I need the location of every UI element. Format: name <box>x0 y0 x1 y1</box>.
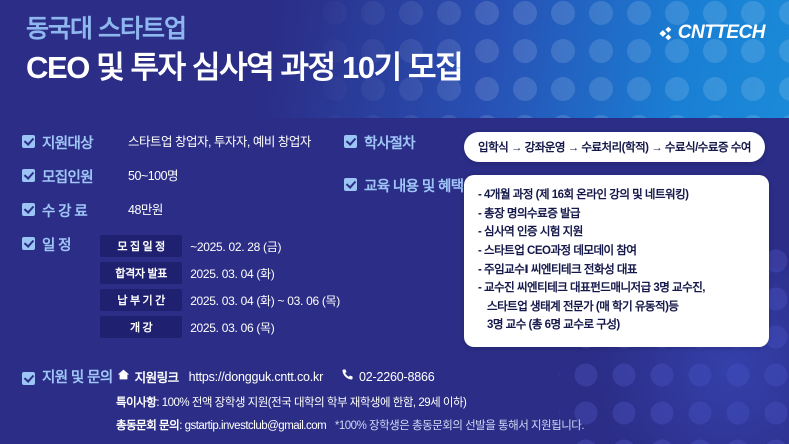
schedule-value: ~2025. 02. 28 (금) <box>190 238 281 255</box>
schedule-key: 납 부 기 간 <box>100 289 182 311</box>
info-label: 학사절차 <box>364 132 464 153</box>
schedule-key: 개 강 <box>100 316 182 338</box>
phone-number: 02-2260-8866 <box>359 370 434 384</box>
page-title: CEO 및 투자 심사역 과정 10기 모집 <box>26 50 789 86</box>
table-row: 개 강 2025. 03. 06 (목) <box>100 316 340 338</box>
phone-contact[interactable]: 02-2260-8866 <box>341 368 434 386</box>
schedule-value: 2025. 03. 04 (화) <box>190 265 274 282</box>
check-icon <box>344 135 357 148</box>
info-label: 수 강 료 <box>42 200 128 221</box>
schedule-key: 모 집 일 정 <box>100 235 182 257</box>
support-link-label: 지원링크 <box>135 367 179 386</box>
benefits-box: - 4개월 과정 (제 16회 온라인 강의 및 네트워킹) - 총장 명의수료… <box>464 175 769 347</box>
process-flow-box: 입학식 → 강좌운영 → 수료처리(학적) → 수료식/수료증 수여 <box>464 132 765 162</box>
support-url[interactable]: https://dongguk.cntt.co.kr <box>189 370 323 384</box>
check-icon <box>22 372 35 385</box>
info-row-capacity: 모집인원 50~100명 <box>22 166 340 187</box>
info-value: 스타트업 창업자, 투자자, 예비 창업자 <box>128 132 311 152</box>
table-row: 모 집 일 정 ~2025. 02. 28 (금) <box>100 235 340 257</box>
list-item: - 4개월 과정 (제 16회 온라인 강의 및 네트워킹) <box>478 186 755 205</box>
table-row: 납 부 기 간 2025. 03. 04 (화) ~ 03. 06 (목) <box>100 289 340 311</box>
support-link[interactable]: 지원링크 https://dongguk.cntt.co.kr <box>117 367 323 386</box>
info-value: 50~100명 <box>128 166 178 186</box>
table-row: 합격자 발표 2025. 03. 04 (화) <box>100 262 340 284</box>
info-row-process: 학사절차 입학식 → 강좌운영 → 수료처리(학적) → 수료식/수료증 수여 <box>344 132 789 162</box>
footer-alumni-value[interactable]: : gstartip.investclub@gmail.com <box>179 420 326 432</box>
list-item: - 심사역 인증 시험 지원 <box>478 223 755 242</box>
brand-logo-text: CNTTECH <box>678 22 765 44</box>
info-row-fee: 수 강 료 48만원 <box>22 200 340 221</box>
diamond-cluster-icon <box>656 25 673 42</box>
info-row-target: 지원대상 스타트업 창업자, 투자자, 예비 창업자 <box>22 132 340 153</box>
footer-note-label: 특이사항 <box>116 397 156 409</box>
schedule-value: 2025. 03. 04 (화) ~ 03. 06 (목) <box>190 292 340 309</box>
footer-note-value: : 100% 전액 장학생 지원(전국 대학의 학부 재학생에 한함, 29세 … <box>156 397 466 409</box>
schedule-label: 일 정 <box>42 234 100 255</box>
list-item: - 교수진 씨엔티테크 대표펀드매니저급 3명 교수진, 스타트업 생태계 전문… <box>478 279 755 335</box>
left-column: 지원대상 스타트업 창업자, 투자자, 예비 창업자 모집인원 50~100명 … <box>0 132 340 360</box>
poster-header: 동국대 스타트업 CEO 및 투자 심사역 과정 10기 모집 CNTTECH <box>0 0 789 118</box>
schedule-key: 합격자 발표 <box>100 262 182 284</box>
footer-alumni-label: 총동문회 문의 <box>116 420 179 432</box>
right-column: 학사절차 입학식 → 강좌운영 → 수료처리(학적) → 수료식/수료증 수여 … <box>340 132 789 360</box>
info-label: 교육 내용 및 혜택 <box>364 175 464 196</box>
info-row-benefits: 교육 내용 및 혜택 - 4개월 과정 (제 16회 온라인 강의 및 네트워킹… <box>344 175 789 347</box>
check-icon <box>22 203 35 216</box>
list-item: - 스타트업 CEO과정 데모데이 참여 <box>478 242 755 261</box>
list-item: - 주임교수Ⅰ 씨엔티테크 전화성 대표 <box>478 261 755 280</box>
check-icon <box>22 237 35 250</box>
check-icon <box>22 135 35 148</box>
contact-label: 지원 및 문의 <box>42 366 113 387</box>
footer-alumni: 총동문회 문의: gstartip.investclub@gmail.com *… <box>116 417 789 433</box>
schedule-value: 2025. 03. 06 (목) <box>190 319 274 336</box>
info-row-schedule: 일 정 모 집 일 정 ~2025. 02. 28 (금) 합격자 발표 202… <box>22 234 340 338</box>
info-label: 모집인원 <box>42 166 128 187</box>
footer-note: 특이사항: 100% 전액 장학생 지원(전국 대학의 학부 재학생에 한함, … <box>116 394 789 410</box>
list-item: - 총장 명의수료증 발급 <box>478 205 755 224</box>
poster-body: 지원대상 스타트업 창업자, 투자자, 예비 창업자 모집인원 50~100명 … <box>0 118 789 444</box>
schedule-table: 모 집 일 정 ~2025. 02. 28 (금) 합격자 발표 2025. 0… <box>100 234 340 338</box>
brand-logo: CNTTECH <box>656 22 765 44</box>
home-icon <box>117 368 130 386</box>
info-value: 48만원 <box>128 200 163 220</box>
promo-poster: 동국대 스타트업 CEO 및 투자 심사역 과정 10기 모집 CNTTECH <box>0 0 789 444</box>
info-label: 지원대상 <box>42 132 128 153</box>
check-icon <box>344 178 357 191</box>
check-icon <box>22 169 35 182</box>
footer-alumni-note: *100% 장학생은 총동문회의 선발을 통해서 지원됩니다. <box>335 420 584 432</box>
phone-icon <box>341 368 354 386</box>
poster-footer: 지원 및 문의 지원링크 https://dongguk.cntt.co.kr <box>0 360 789 433</box>
